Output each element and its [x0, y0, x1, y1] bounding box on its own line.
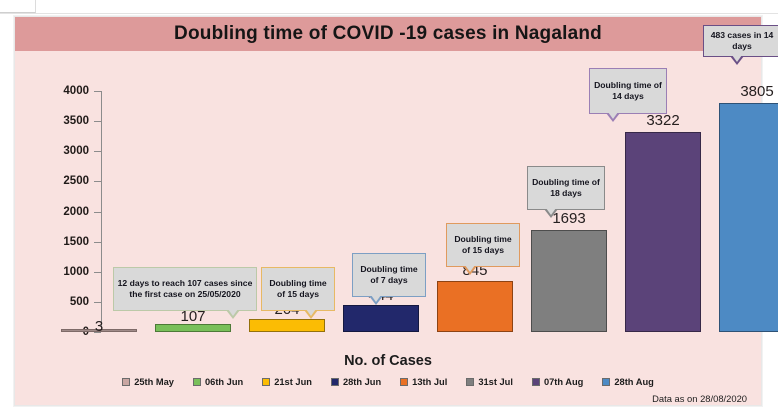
y-axis-tick — [94, 91, 101, 92]
callout-12-days-to-reach-107[interactable]: 12 days to reach 107 cases since the fir… — [113, 267, 257, 311]
y-axis-label-4000: 4000 — [29, 86, 89, 98]
bar-value-31st-jul: 1693 — [531, 211, 607, 226]
callout-doubling-18-days-31st-jul[interactable]: Doubling time of 18 days — [527, 166, 605, 210]
chart-title: Doubling time of COVID -19 cases in Naga… — [15, 17, 761, 51]
bar-value-25th-may: 3 — [61, 319, 137, 334]
callout-text: 483 cases in 14 days — [707, 30, 777, 52]
y-axis-label-3500: 3500 — [29, 116, 89, 128]
y-axis-tick — [94, 302, 101, 303]
y-axis-label-2500: 2500 — [29, 176, 89, 188]
y-axis-label-1000: 1000 — [29, 267, 89, 279]
callout-tail-icon — [369, 296, 383, 305]
legend-label: 07th Aug — [544, 377, 583, 387]
y-axis-label-2000: 2000 — [29, 207, 89, 219]
y-axis-tick — [94, 272, 101, 273]
callout-tail-icon — [226, 310, 240, 319]
data-as-on-footnote: Data as on 28/08/2020 — [652, 393, 747, 404]
bar-13th-jul[interactable] — [437, 281, 513, 332]
callout-tail-icon — [304, 310, 318, 319]
callout-text: Doubling time of 18 days — [531, 177, 601, 199]
bar-31st-jul[interactable] — [531, 230, 607, 332]
legend-item-28th-jun[interactable]: 28th Jun — [331, 377, 381, 387]
legend-label: 21st Jun — [274, 377, 312, 387]
legend-swatch-icon — [193, 378, 201, 386]
bar-28th-aug[interactable] — [719, 103, 778, 332]
legend-swatch-icon — [400, 378, 408, 386]
legend-swatch-icon — [532, 378, 540, 386]
y-axis-tick — [94, 212, 101, 213]
x-axis-label: No. of Cases — [15, 353, 761, 369]
callout-text: 12 days to reach 107 cases since the fir… — [117, 278, 253, 300]
legend-label: 06th Jun — [205, 377, 243, 387]
document-tab-fragment — [0, 0, 36, 13]
callout-doubling-7-days-28th-jun[interactable]: Doubling time of 7 days — [352, 253, 426, 297]
legend-item-21st-jun[interactable]: 21st Jun — [262, 377, 312, 387]
callout-483-cases-in-14-days[interactable]: 483 cases in 14 days — [703, 25, 778, 57]
bar-07th-aug[interactable] — [625, 132, 701, 332]
legend-label: 28th Aug — [614, 377, 653, 387]
legend-swatch-icon — [122, 378, 130, 386]
legend-item-07th-aug[interactable]: 07th Aug — [532, 377, 583, 387]
bar-value-06th-jun: 107 — [155, 309, 231, 324]
callout-text: Doubling time of 14 days — [593, 80, 663, 102]
legend-label: 25th May — [134, 377, 174, 387]
bar-28th-jun[interactable] — [343, 305, 419, 332]
bar-06th-jun[interactable] — [155, 324, 231, 332]
callout-doubling-15-days-13th-jul[interactable]: Doubling time of 15 days — [446, 223, 520, 267]
document-top-strip — [0, 0, 778, 14]
bar-value-28th-aug: 3805 — [719, 84, 778, 99]
legend-item-31st-jul[interactable]: 31st Jul — [466, 377, 513, 387]
y-axis-label-500: 500 — [29, 297, 89, 309]
callout-tail-icon — [544, 209, 558, 218]
callout-doubling-14-days-07th-aug[interactable]: Doubling time of 14 days — [589, 68, 667, 114]
legend-item-06th-jun[interactable]: 06th Jun — [193, 377, 243, 387]
callout-text: Doubling time of 15 days — [265, 278, 331, 300]
y-axis-tick — [94, 121, 101, 122]
callout-tail-icon — [463, 266, 477, 275]
callout-text: Doubling time of 15 days — [450, 234, 516, 256]
legend-swatch-icon — [262, 378, 270, 386]
bar-21st-jun[interactable] — [249, 319, 325, 332]
legend-label: 28th Jun — [343, 377, 381, 387]
plot-area: 4000 3500 3000 2500 2000 1500 1000 500 0… — [15, 51, 761, 371]
y-axis-tick — [94, 181, 101, 182]
y-axis-label-3000: 3000 — [29, 146, 89, 158]
legend-label: 31st Jul — [478, 377, 513, 387]
legend-swatch-icon — [466, 378, 474, 386]
legend-item-25th-may[interactable]: 25th May — [122, 377, 174, 387]
y-axis-tick — [94, 151, 101, 152]
chart-page: Doubling time of COVID -19 cases in Naga… — [0, 0, 778, 413]
callout-doubling-15-days-21st-jun[interactable]: Doubling time of 15 days — [261, 267, 335, 311]
chart-legend: 25th May 06th Jun 21st Jun 28th Jun 13th… — [15, 377, 761, 387]
legend-item-13th-jul[interactable]: 13th Jul — [400, 377, 447, 387]
callout-tail-icon — [730, 56, 744, 65]
y-axis-line — [101, 91, 102, 332]
legend-swatch-icon — [331, 378, 339, 386]
legend-swatch-icon — [602, 378, 610, 386]
legend-label: 13th Jul — [412, 377, 447, 387]
legend-item-28th-aug[interactable]: 28th Aug — [602, 377, 653, 387]
callout-text: Doubling time of 7 days — [356, 264, 422, 286]
y-axis-label-1500: 1500 — [29, 237, 89, 249]
callout-tail-icon — [606, 113, 620, 122]
chart-frame: Doubling time of COVID -19 cases in Naga… — [14, 16, 762, 406]
bar-value-07th-aug: 3322 — [625, 113, 701, 128]
y-axis-tick — [94, 242, 101, 243]
